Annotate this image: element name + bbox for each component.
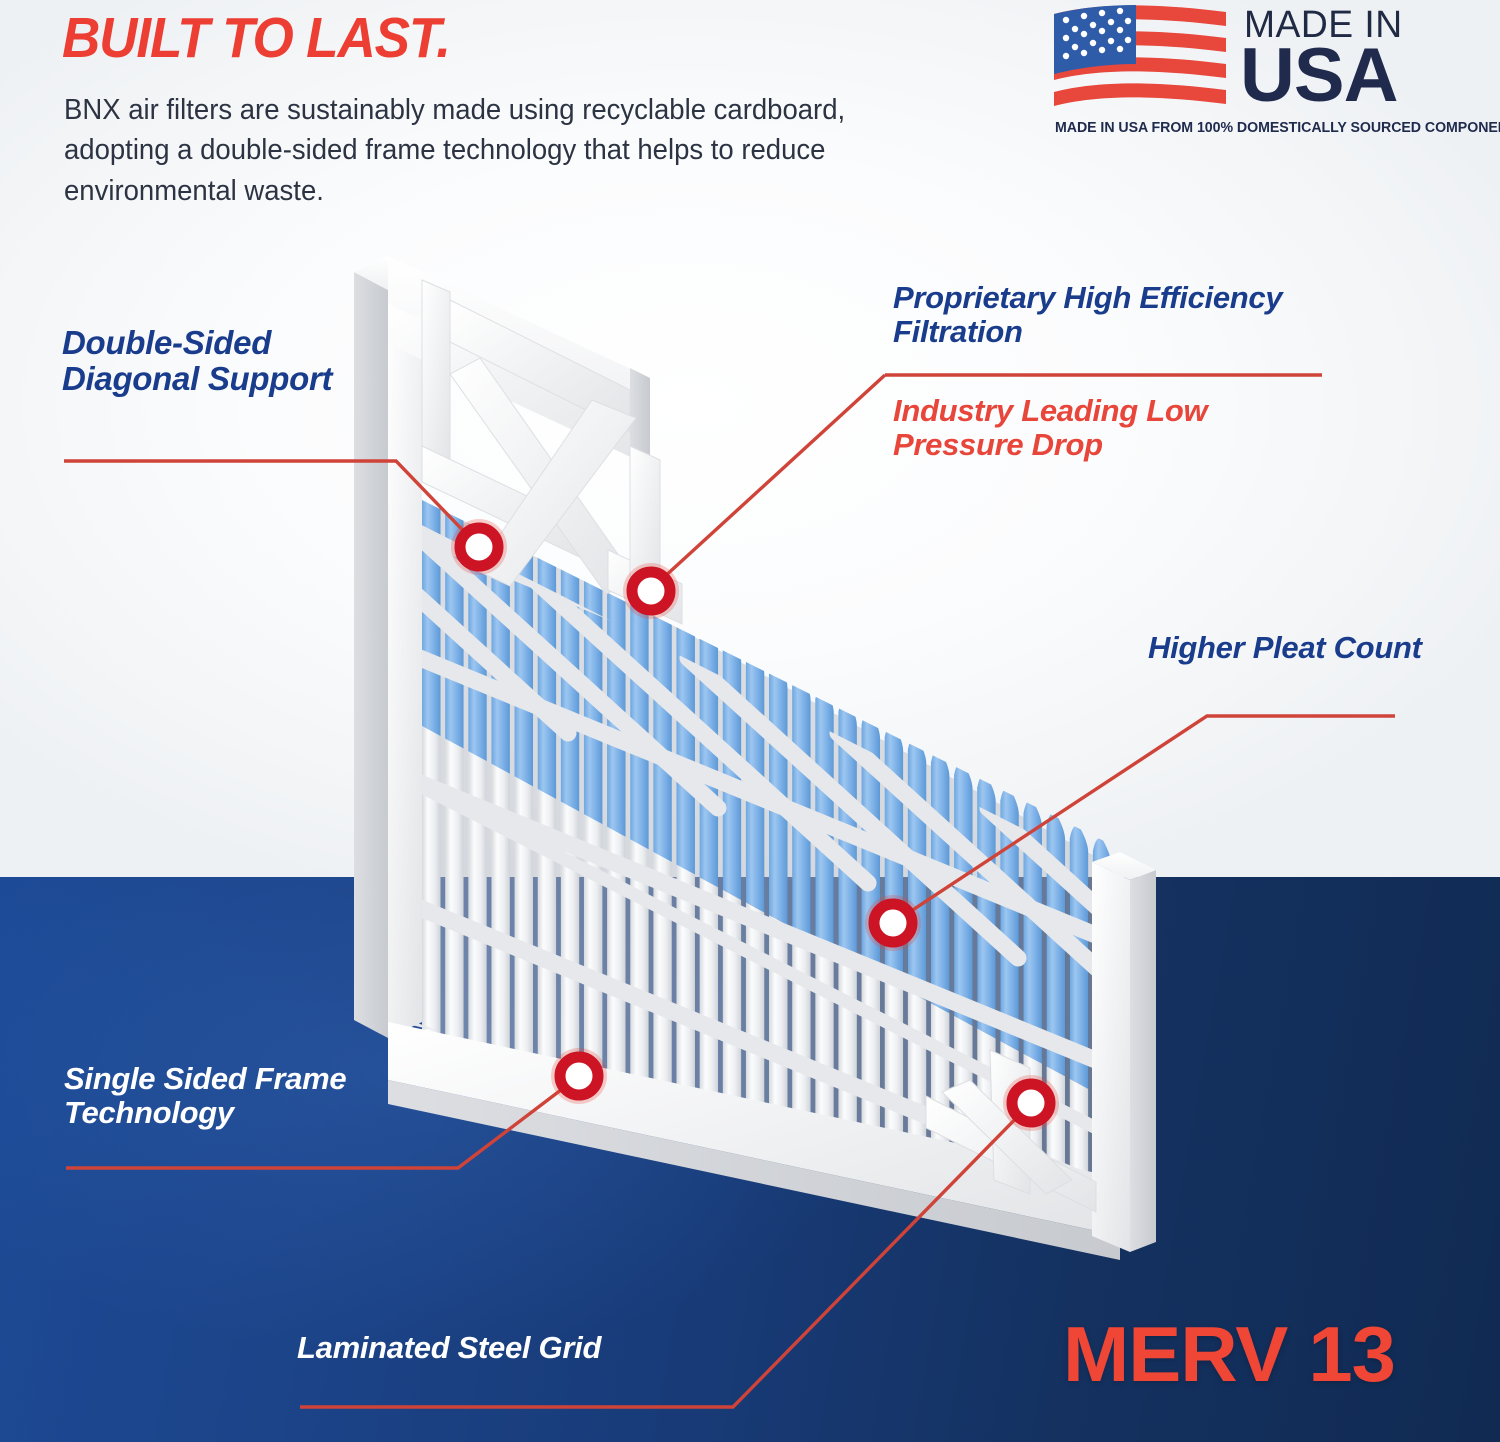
badge-usa-text: USA	[1240, 38, 1397, 114]
callout-double-sided-diagonal-support: Double-Sided Diagonal Support	[62, 325, 402, 398]
pleat-crease	[880, 739, 885, 1134]
callout-industry-leading-low-pressure-drop: Industry Leading Low Pressure Drop	[893, 394, 1333, 462]
pleat-crease	[903, 751, 908, 1138]
infographic-root: BUILT TO LAST. BNX air filters are susta…	[0, 0, 1500, 1442]
callout-label: Single Sided Frame Technology	[64, 1062, 494, 1130]
pleat-crease	[556, 561, 561, 1061]
pleat-crease	[857, 726, 862, 1128]
callout-label: Laminated Steel Grid	[297, 1331, 757, 1365]
pleat-white-body	[445, 739, 464, 1042]
pleat-crease	[441, 498, 446, 1036]
page-headline: BUILT TO LAST.	[62, 10, 450, 67]
pleat-blue-top	[468, 496, 487, 761]
callout-label: Double-Sided Diagonal Support	[62, 325, 402, 398]
pleat-white-body	[746, 902, 765, 1108]
pleat-crease	[834, 713, 839, 1123]
pleat-white-body	[422, 726, 441, 1036]
made-in-usa-badge: MADE IN USA MADE IN USA FROM 100% DOMEST…	[1048, 2, 1494, 142]
callout-single-sided-frame-technology: Single Sided Frame Technology	[64, 1062, 494, 1130]
callout-label: Proprietary High Efficiency Filtration	[893, 281, 1333, 349]
frame-right-end	[1092, 852, 1156, 1252]
pleat-crease	[579, 574, 584, 1067]
pleat-blue-top	[630, 585, 649, 849]
callout-proprietary-high-efficiency-filtration: Proprietary High Efficiency Filtration	[893, 281, 1333, 349]
pleat-white-body	[885, 978, 904, 1139]
pleat-white-body	[862, 965, 881, 1133]
usa-flag-icon	[1050, 2, 1230, 114]
pleat-white-body	[815, 940, 834, 1123]
pleat-crease	[1042, 827, 1047, 1169]
page-subhead: BNX air filters are sustainably made usi…	[64, 90, 865, 211]
grid-strut	[388, 1270, 1120, 1310]
merv-rating-badge: MERV 13	[1063, 1315, 1395, 1393]
pleat-crease	[602, 587, 607, 1072]
pleat-blue-top	[676, 610, 695, 874]
callout-label: Higher Pleat Count	[1148, 631, 1478, 665]
callout-label: Industry Leading Low Pressure Drop	[893, 394, 1333, 462]
pleat-white-body	[838, 953, 857, 1129]
callout-laminated-steel-grid: Laminated Steel Grid	[297, 1331, 757, 1365]
badge-fine-print: MADE IN USA FROM 100% DOMESTICALLY SOURC…	[1055, 120, 1500, 136]
callout-higher-pleat-count: Higher Pleat Count	[1148, 631, 1478, 665]
pleat-crease	[533, 549, 538, 1057]
pleat-blue-top	[653, 598, 672, 862]
pleat-white-body	[769, 915, 788, 1113]
pleat-white-body	[792, 928, 811, 1119]
